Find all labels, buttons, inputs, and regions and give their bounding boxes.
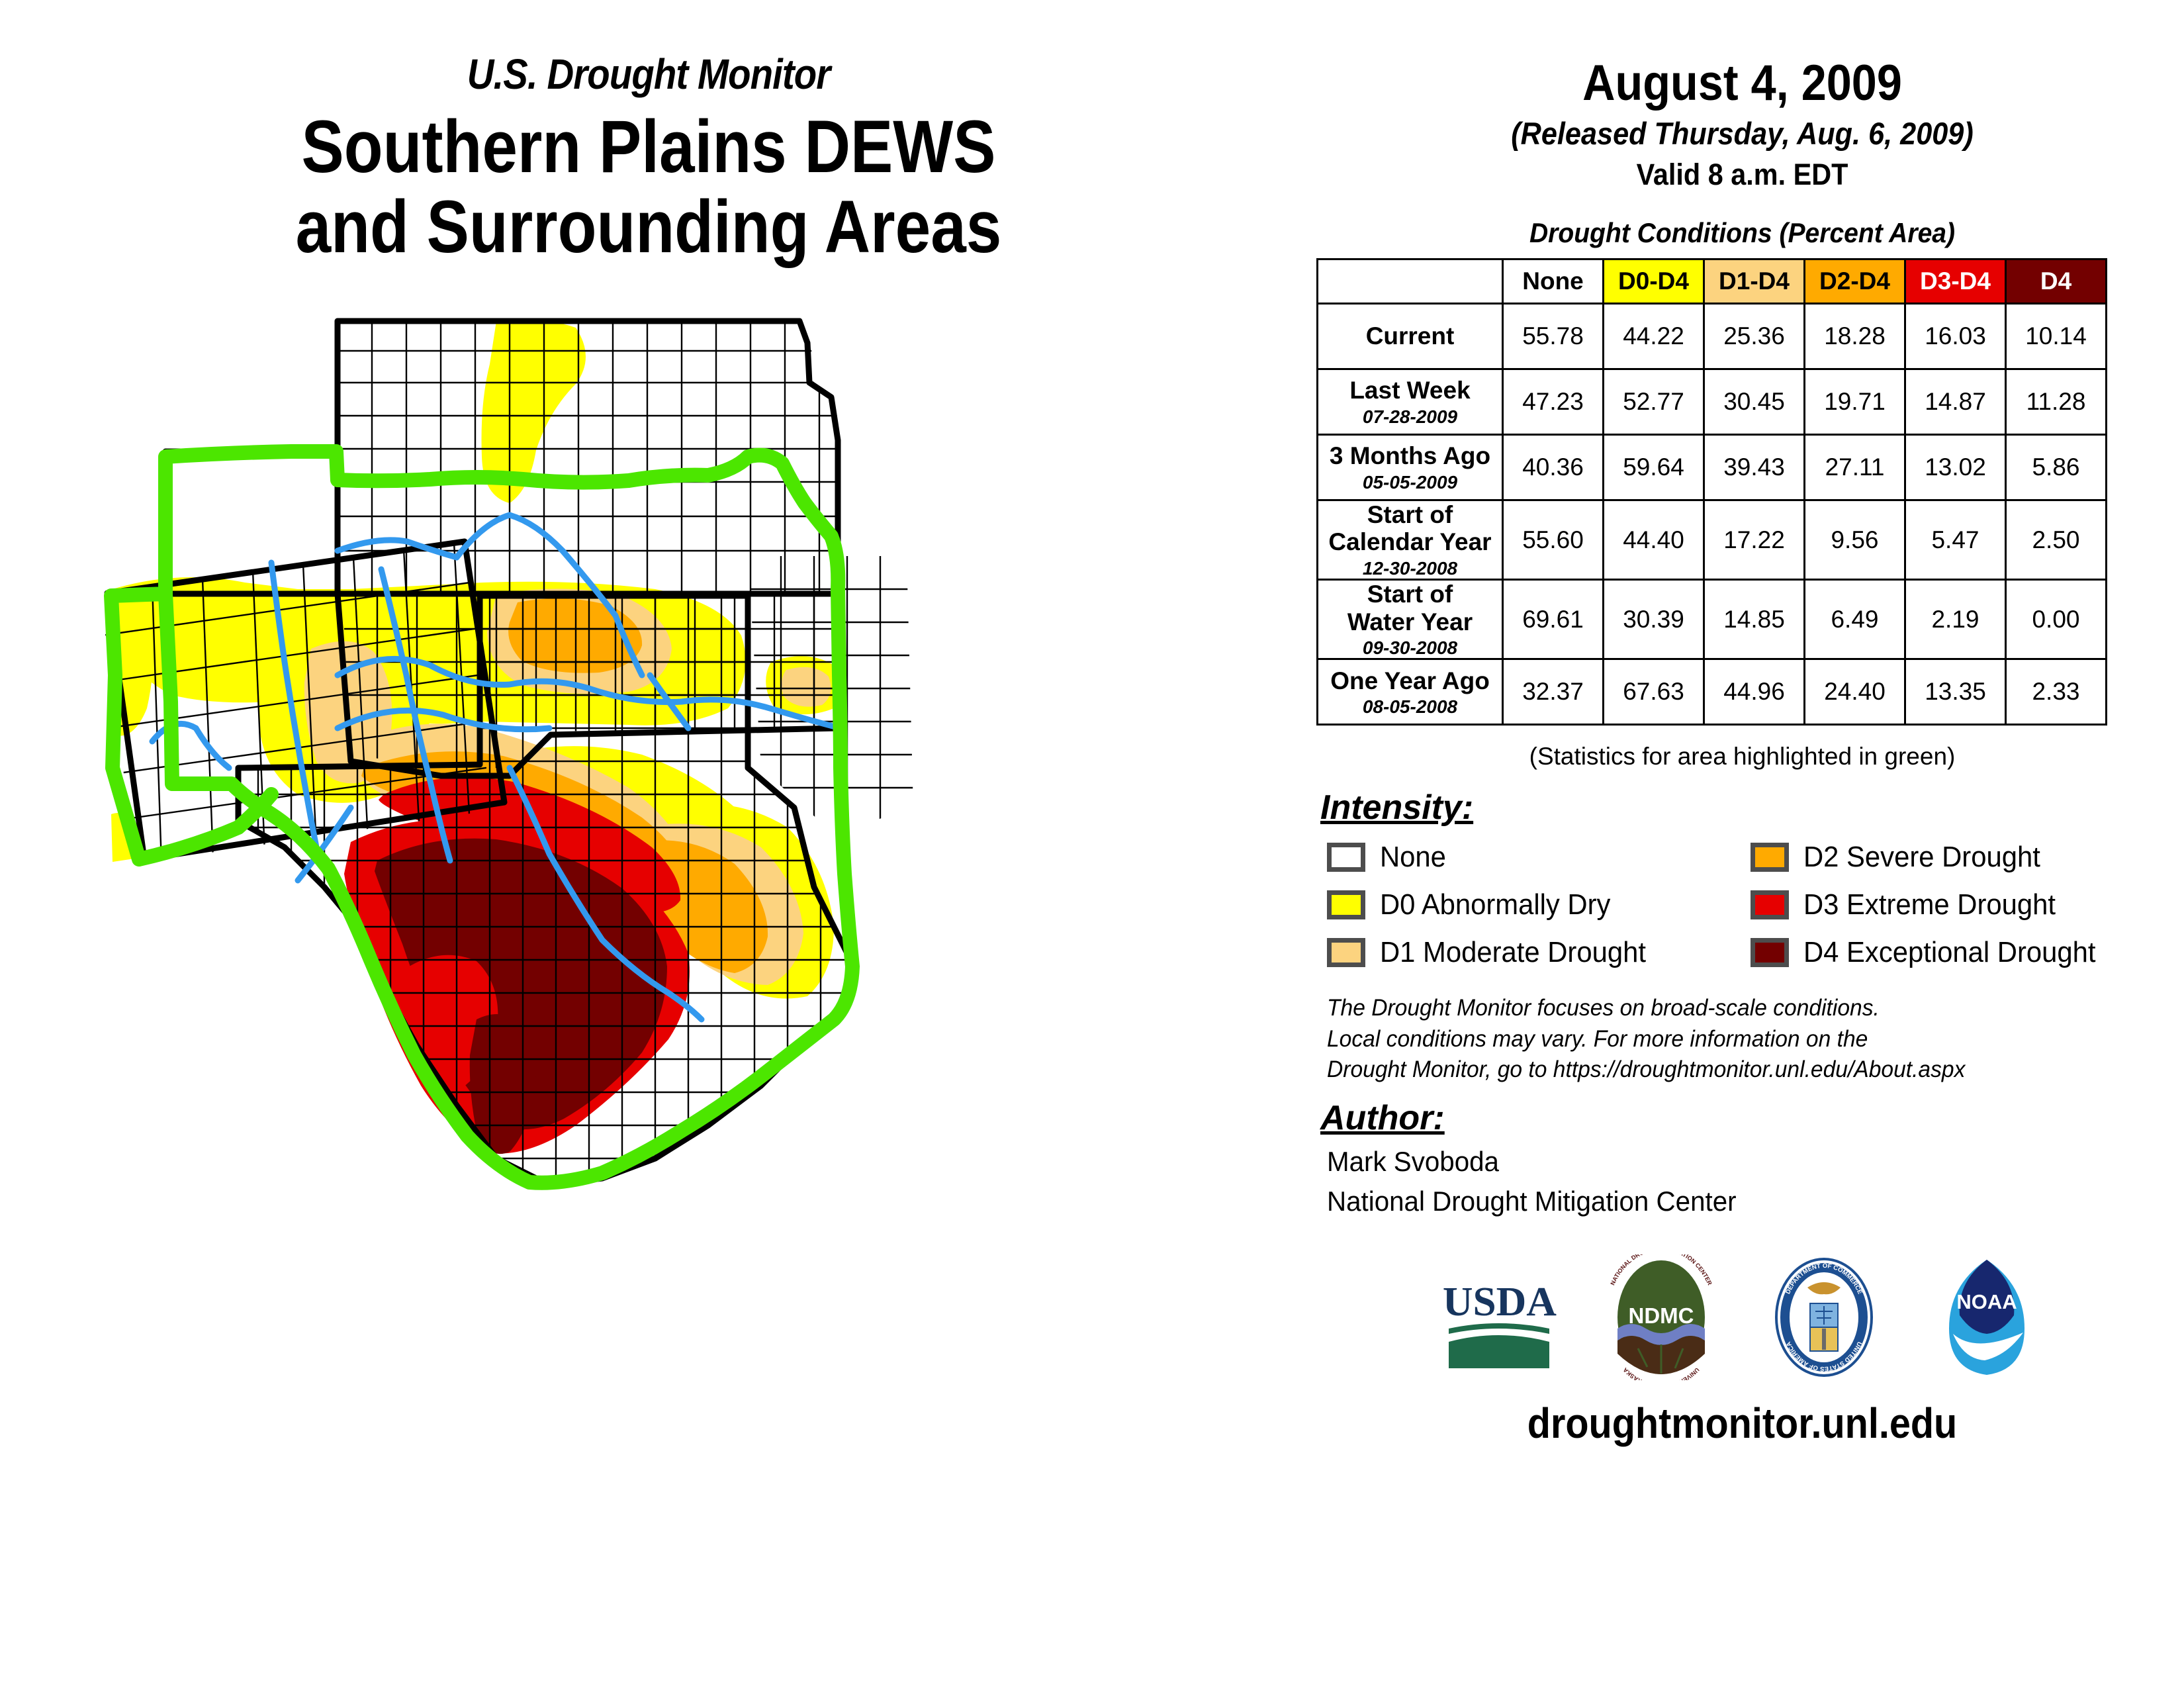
legend-label-d3: D3 Extreme Drought xyxy=(1803,888,2056,921)
table-cell-value: 14.85 xyxy=(1704,580,1805,659)
table-header: None D0-D4 D1-D4 D2-D4 D3-D4 D4 xyxy=(1318,259,2107,304)
legend-label-d1: D1 Moderate Drought xyxy=(1380,936,1646,969)
disclaimer-text: The Drought Monitor focuses on broad-sca… xyxy=(1327,993,2150,1085)
table-cell-value: 18.28 xyxy=(1805,304,1905,369)
table-cell-value: 2.19 xyxy=(1905,580,2006,659)
table-row: 3 Months Ago05-05-200940.3659.6439.4327.… xyxy=(1318,435,2107,500)
kicker-title: U.S. Drought Monitor xyxy=(78,53,1220,95)
column-header-d2d4: D2-D4 xyxy=(1805,259,1905,304)
table-cell-value: 52.77 xyxy=(1604,369,1704,435)
swatch-d1-icon xyxy=(1327,938,1365,967)
legend-item-d3[interactable]: D3 Extreme Drought xyxy=(1751,888,2174,921)
row-label: Start ofWater Year09-30-2008 xyxy=(1318,580,1503,659)
drought-map[interactable] xyxy=(73,305,1304,1536)
table-cell-value: 6.49 xyxy=(1805,580,1905,659)
table-cell-value: 55.78 xyxy=(1503,304,1604,369)
table-body: Current55.7844.2225.3618.2816.0310.14Las… xyxy=(1318,304,2107,725)
column-header-d3d4: D3-D4 xyxy=(1905,259,2006,304)
swatch-d4-icon xyxy=(1751,938,1789,967)
table-cell-value: 16.03 xyxy=(1905,304,2006,369)
usda-logo: USDA xyxy=(1435,1254,1561,1380)
row-label: One Year Ago08-05-2008 xyxy=(1318,659,1503,725)
noaa-logo: NOAA xyxy=(1924,1254,2050,1380)
table-cell-value: 14.87 xyxy=(1905,369,2006,435)
legend-item-d4[interactable]: D4 Exceptional Drought xyxy=(1751,936,2174,969)
drought-map-svg xyxy=(73,305,1304,1536)
intensity-legend: None D2 Severe Drought D0 Abnormally Dry… xyxy=(1327,841,2184,969)
table-cell-value: 67.63 xyxy=(1604,659,1704,725)
table-cell-value: 2.33 xyxy=(2006,659,2107,725)
logo-row: USDA NDMC NATIONAL DROUGHT MITIGATION CE… xyxy=(1300,1254,2184,1380)
table-cell-value: 10.14 xyxy=(2006,304,2107,369)
table-cell-value: 13.35 xyxy=(1905,659,2006,725)
table-row: Last Week07-28-200947.2352.7730.4519.711… xyxy=(1318,369,2107,435)
page-title: Southern Plains DEWS and Surrounding Are… xyxy=(91,107,1206,267)
author-name: Mark Svoboda xyxy=(1327,1146,2150,1178)
column-header-none: None xyxy=(1503,259,1604,304)
table-cell-value: 5.86 xyxy=(2006,435,2107,500)
row-label: Current xyxy=(1318,304,1503,369)
table-cell-value: 0.00 xyxy=(2006,580,2107,659)
column-header-d1d4: D1-D4 xyxy=(1704,259,1805,304)
legend-label-d2: D2 Severe Drought xyxy=(1803,841,2040,874)
ndmc-logo: NDMC NATIONAL DROUGHT MITIGATION CENTER … xyxy=(1598,1254,1724,1380)
table-cell-value: 11.28 xyxy=(2006,369,2107,435)
issue-date: August 4, 2009 xyxy=(1345,58,2140,109)
table-cell-value: 19.71 xyxy=(1805,369,1905,435)
table-cell-value: 32.37 xyxy=(1503,659,1604,725)
table-cell-value: 69.61 xyxy=(1503,580,1604,659)
row-label-date: 09-30-2008 xyxy=(1318,637,1502,658)
legend-label-d0: D0 Abnormally Dry xyxy=(1380,888,1610,921)
table-cell-value: 44.40 xyxy=(1604,500,1704,580)
swatch-none-icon xyxy=(1327,843,1365,872)
row-label: Start ofCalendar Year12-30-2008 xyxy=(1318,500,1503,580)
row-label-date: 05-05-2009 xyxy=(1318,472,1502,492)
row-label-date: 12-30-2008 xyxy=(1318,558,1502,579)
table-cell-value: 17.22 xyxy=(1704,500,1805,580)
green-area-note: (Statistics for area highlighted in gree… xyxy=(1300,743,2184,771)
table-cell-value: 27.11 xyxy=(1805,435,1905,500)
table-row: Start ofCalendar Year12-30-200855.6044.4… xyxy=(1318,500,2107,580)
table-caption: Drought Conditions (Percent Area) xyxy=(1332,217,2154,249)
table-row: Current55.7844.2225.3618.2816.0310.14 xyxy=(1318,304,2107,369)
table-cell-value: 40.36 xyxy=(1503,435,1604,500)
table-cell-value: 44.22 xyxy=(1604,304,1704,369)
column-header-d4: D4 xyxy=(2006,259,2107,304)
author-affiliation: National Drought Mitigation Center xyxy=(1327,1186,2150,1217)
row-label: Last Week07-28-2009 xyxy=(1318,369,1503,435)
site-url[interactable]: droughtmonitor.unl.edu xyxy=(1345,1399,2140,1448)
commerce-seal: DEPARTMENT OF COMMERCE UNITED STATES OF … xyxy=(1761,1254,1887,1380)
swatch-d0-icon xyxy=(1327,890,1365,919)
legend-item-d2[interactable]: D2 Severe Drought xyxy=(1751,841,2174,874)
legend-item-none[interactable]: None xyxy=(1327,841,1751,874)
table-cell-value: 5.47 xyxy=(1905,500,2006,580)
right-panel: August 4, 2009 (Released Thursday, Aug. … xyxy=(1300,0,2184,1688)
table-row: Start ofWater Year09-30-200869.6130.3914… xyxy=(1318,580,2107,659)
row-label-date: 07-28-2009 xyxy=(1318,406,1502,427)
table-cell-value: 55.60 xyxy=(1503,500,1604,580)
author-heading: Author: xyxy=(1320,1098,1445,1138)
release-date: (Released Thursday, Aug. 6, 2009) xyxy=(1336,118,2148,149)
swatch-d3-icon xyxy=(1751,890,1789,919)
table-corner-cell xyxy=(1318,259,1503,304)
valid-time: Valid 8 a.m. EDT xyxy=(1336,160,2148,189)
ndmc-wordmark: NDMC xyxy=(1628,1303,1694,1328)
row-label: 3 Months Ago05-05-2009 xyxy=(1318,435,1503,500)
table-row: One Year Ago08-05-200832.3767.6344.9624.… xyxy=(1318,659,2107,725)
table-cell-value: 2.50 xyxy=(2006,500,2107,580)
table-cell-value: 44.96 xyxy=(1704,659,1805,725)
legend-item-d1[interactable]: D1 Moderate Drought xyxy=(1327,936,1751,969)
table-cell-value: 9.56 xyxy=(1805,500,1905,580)
column-header-d0d4: D0-D4 xyxy=(1604,259,1704,304)
intensity-heading: Intensity: xyxy=(1320,788,1473,827)
table-cell-value: 47.23 xyxy=(1503,369,1604,435)
legend-item-d0[interactable]: D0 Abnormally Dry xyxy=(1327,888,1751,921)
table-cell-value: 30.39 xyxy=(1604,580,1704,659)
table-cell-value: 13.02 xyxy=(1905,435,2006,500)
table-cell-value: 24.40 xyxy=(1805,659,1905,725)
table-cell-value: 30.45 xyxy=(1704,369,1805,435)
legend-label-d4: D4 Exceptional Drought xyxy=(1803,936,2095,969)
drought-statistics-table: None D0-D4 D1-D4 D2-D4 D3-D4 D4 Current5… xyxy=(1316,258,2107,726)
legend-label-none: None xyxy=(1380,841,1446,874)
noaa-wordmark: NOAA xyxy=(1956,1290,2017,1313)
table-cell-value: 39.43 xyxy=(1704,435,1805,500)
table-cell-value: 59.64 xyxy=(1604,435,1704,500)
usda-wordmark: USDA xyxy=(1442,1279,1556,1325)
date-block: August 4, 2009 (Released Thursday, Aug. … xyxy=(1300,0,2184,189)
row-label-date: 08-05-2008 xyxy=(1318,696,1502,717)
title-block: U.S. Drought Monitor Southern Plains DEW… xyxy=(0,53,1297,267)
swatch-d2-icon xyxy=(1751,843,1789,872)
table-header-row: None D0-D4 D1-D4 D2-D4 D3-D4 D4 xyxy=(1318,259,2107,304)
table-cell-value: 25.36 xyxy=(1704,304,1805,369)
